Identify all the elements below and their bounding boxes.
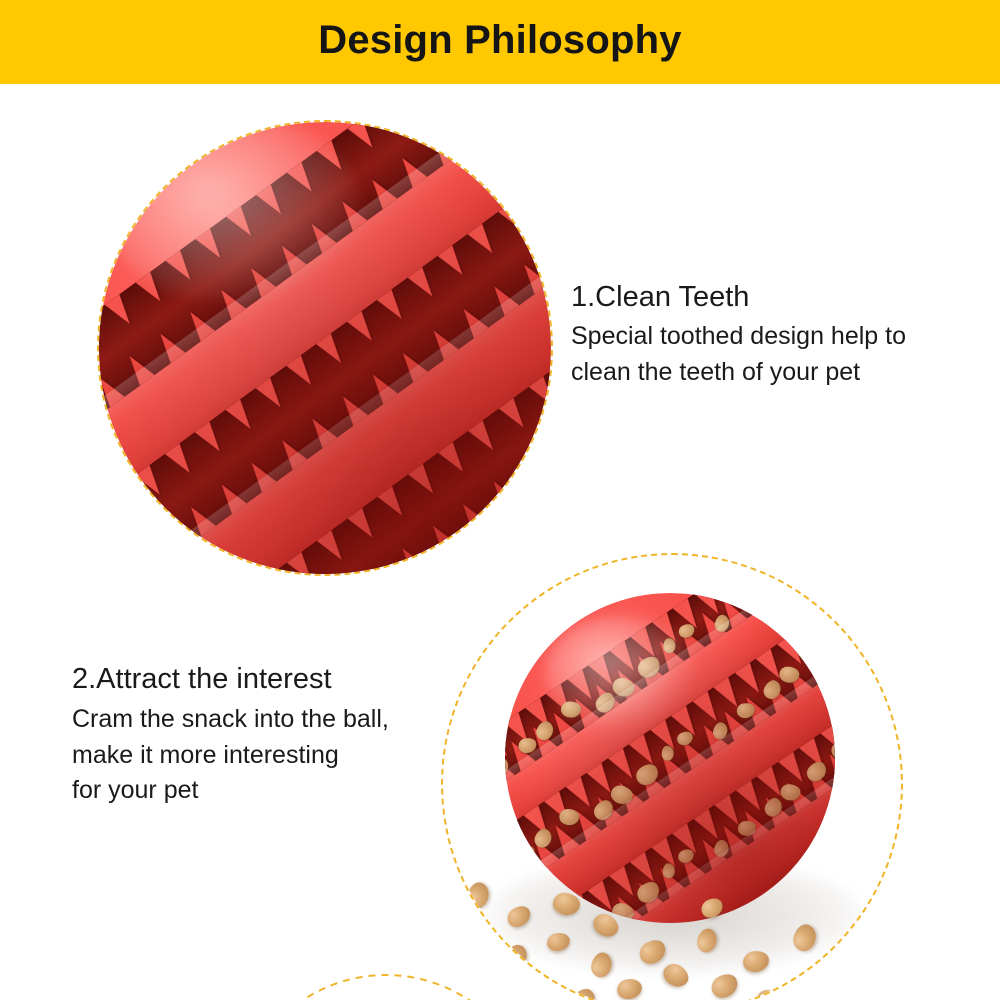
kibble-piece bbox=[566, 984, 601, 1000]
infographic-page: Design Philosophy bbox=[0, 0, 1000, 1000]
kibble-piece bbox=[707, 970, 741, 1000]
feature-heading: 1.Clean Teeth bbox=[571, 281, 906, 313]
feature-heading: 2.Attract the interest bbox=[72, 663, 389, 695]
ball-shading bbox=[505, 593, 835, 923]
feature-body-line: Special toothed design help to bbox=[571, 319, 906, 355]
kibble-piece bbox=[842, 977, 870, 1000]
feature-body-line: for your pet bbox=[72, 773, 389, 809]
kibble-piece bbox=[452, 921, 483, 953]
chew-ball-full bbox=[505, 593, 835, 923]
ball-tooth bbox=[99, 567, 125, 574]
feature-body-line: make it more interesting bbox=[72, 738, 389, 774]
feature-text-clean-teeth: 1.Clean Teeth Special toothed design hel… bbox=[571, 281, 906, 390]
feature-body: Cram the snack into the ball, make it mo… bbox=[72, 702, 389, 809]
ball-shading bbox=[99, 122, 551, 574]
feature-body: Special toothed design help to clean the… bbox=[571, 319, 906, 390]
feature-text-attract-interest: 2.Attract the interest Cram the snack in… bbox=[72, 663, 389, 809]
kibble-piece bbox=[518, 977, 547, 1000]
header-banner: Design Philosophy bbox=[0, 0, 1000, 84]
callout-circle-ball-closeup bbox=[97, 120, 553, 576]
page-title: Design Philosophy bbox=[318, 20, 681, 60]
feature-body-line: Cram the snack into the ball, bbox=[72, 702, 389, 738]
kibble-piece bbox=[471, 969, 501, 995]
kibble-piece bbox=[616, 977, 644, 1000]
feature-body-line: clean the teeth of your pet bbox=[571, 355, 906, 391]
ball-with-kibble-image bbox=[443, 555, 901, 1000]
kibble-piece bbox=[754, 986, 786, 1000]
kibble-piece bbox=[800, 962, 830, 990]
callout-circle-ball-with-kibble bbox=[441, 553, 903, 1000]
ball-closeup-image bbox=[99, 122, 551, 574]
chew-ball-macro bbox=[99, 122, 551, 574]
